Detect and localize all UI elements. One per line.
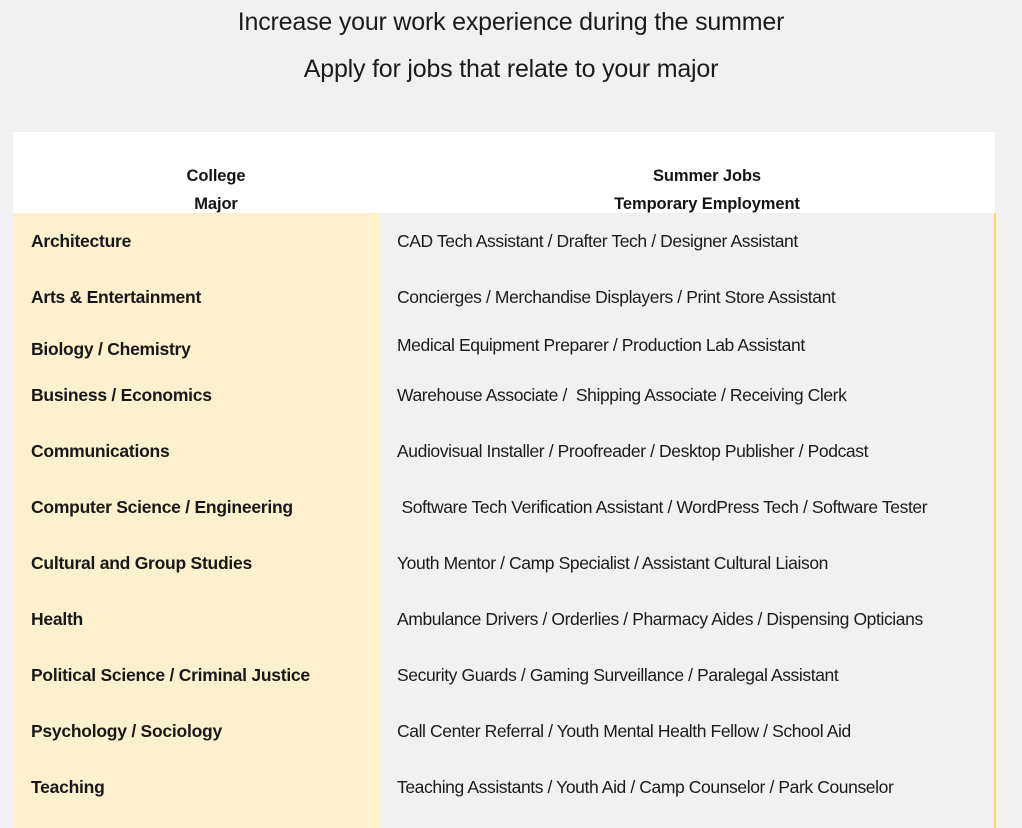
cell-major: Cultural and Group Studies <box>31 535 375 591</box>
table-row: Health Ambulance Drivers / Orderlies / P… <box>13 591 995 647</box>
cell-jobs: Youth Mentor / Camp Specialist / Assista… <box>397 535 997 591</box>
heading-line-secondary: Apply for jobs that relate to your major <box>0 55 1022 84</box>
cell-jobs: Call Center Referral / Youth Mental Heal… <box>397 703 997 759</box>
column-header-jobs: Summer Jobs Temporary Employment <box>419 162 995 218</box>
table-row: Psychology / Sociology Call Center Refer… <box>13 703 995 759</box>
majors-jobs-table: College Major Summer Jobs Temporary Empl… <box>13 132 995 828</box>
cell-jobs: Warehouse Associate / Shipping Associate… <box>397 367 997 423</box>
cell-major: Arts & Entertainment <box>31 269 375 325</box>
cell-major: Psychology / Sociology <box>31 703 375 759</box>
table-row: Cultural and Group Studies Youth Mentor … <box>13 535 995 591</box>
column-header-major: College Major <box>13 162 419 218</box>
cell-major: Teaching <box>31 759 375 815</box>
table-row: Architecture CAD Tech Assistant / Drafte… <box>13 213 995 269</box>
cell-jobs: CAD Tech Assistant / Drafter Tech / Desi… <box>397 213 997 269</box>
page-heading: Increase your work experience during the… <box>0 0 1022 132</box>
table-header-row: College Major Summer Jobs Temporary Empl… <box>13 132 995 213</box>
cell-major: Business / Economics <box>31 367 375 423</box>
cell-jobs: Software Tech Verification Assistant / W… <box>397 479 997 535</box>
heading-line-primary: Increase your work experience during the… <box>0 8 1022 37</box>
cell-major: Communications <box>31 423 375 479</box>
table-row: Communications Audiovisual Installer / P… <box>13 423 995 479</box>
cell-major: Computer Science / Engineering <box>31 479 375 535</box>
table-row: Business / Economics Warehouse Associate… <box>13 367 995 423</box>
table-body: Architecture CAD Tech Assistant / Drafte… <box>13 213 995 828</box>
cell-major: Health <box>31 591 375 647</box>
cell-jobs: Medical Equipment Preparer / Production … <box>397 321 997 367</box>
cell-jobs: Audiovisual Installer / Proofreader / De… <box>397 423 997 479</box>
column-header-jobs-line1: Summer Jobs <box>419 162 995 190</box>
cell-jobs: Ambulance Drivers / Orderlies / Pharmacy… <box>397 591 997 647</box>
cell-jobs: Security Guards / Gaming Surveillance / … <box>397 647 997 703</box>
cell-major: Architecture <box>31 213 375 269</box>
table-row: Political Science / Criminal Justice Sec… <box>13 647 995 703</box>
table-row: Computer Science / Engineering Software … <box>13 479 995 535</box>
cell-jobs: Teaching Assistants / Youth Aid / Camp C… <box>397 759 997 815</box>
table-row: Arts & Entertainment Concierges / Mercha… <box>13 269 995 325</box>
cell-major: Political Science / Criminal Justice <box>31 647 375 703</box>
column-header-major-line1: College <box>13 162 419 190</box>
cell-jobs: Concierges / Merchandise Displayers / Pr… <box>397 269 997 325</box>
table-row: Teaching Teaching Assistants / Youth Aid… <box>13 759 995 815</box>
